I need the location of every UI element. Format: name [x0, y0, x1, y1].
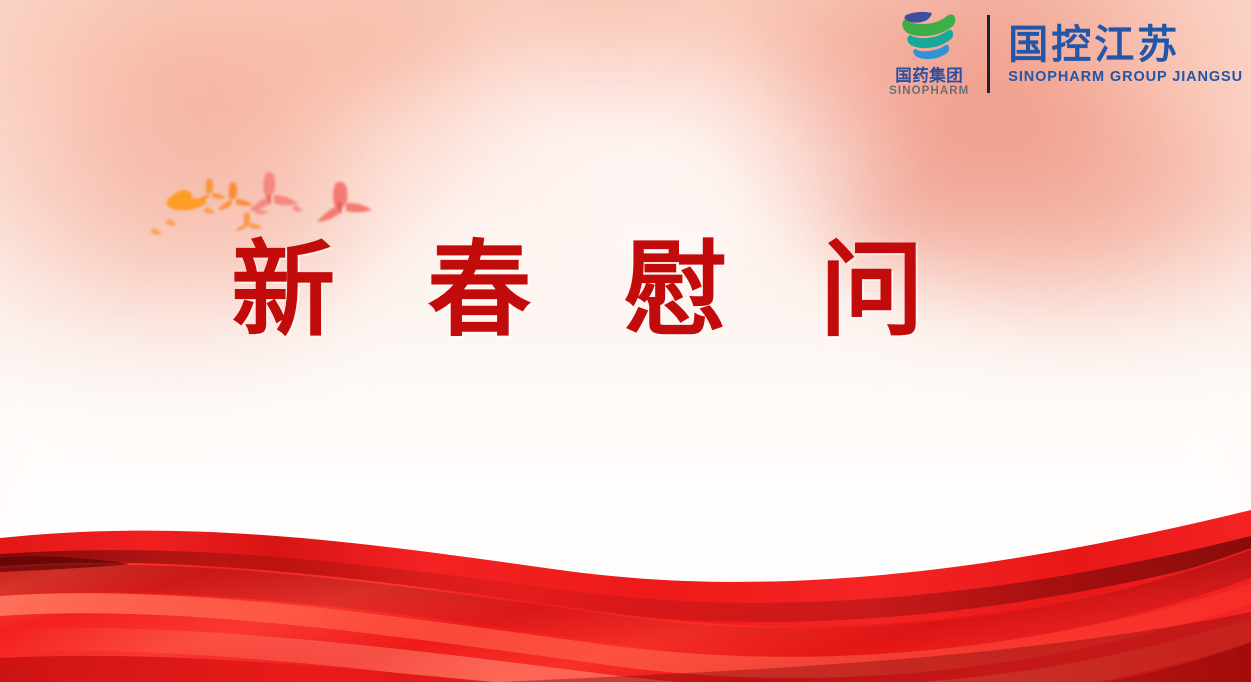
- bird-tiny-orange-a: [204, 208, 216, 214]
- poster-canvas: 新 春 慰 问 国药集团 SINOPHARM 国控江苏: [0, 0, 1251, 682]
- bird-tiny-coral-b: [293, 206, 303, 212]
- bird-large-coral: [317, 182, 372, 222]
- bird-tiny-orange-b: [166, 220, 178, 226]
- bird-medium-coral: [249, 172, 298, 211]
- brand-name-cn: 国控江苏: [1008, 24, 1180, 66]
- sinopharm-ribbon-mark-icon: [893, 9, 965, 65]
- page-title: 新 春 慰 问: [0, 232, 1203, 348]
- logo-divider: [987, 15, 990, 93]
- bird-small-orange-b: [197, 179, 226, 202]
- bird-orange-large: [167, 190, 207, 210]
- group-name-en: SINOPHARM: [889, 85, 969, 99]
- brand-logo-block[interactable]: 国药集团 SINOPHARM 国控江苏 SINOPHARM GROUP JIAN…: [883, 4, 1243, 104]
- group-name-cn: 国药集团: [895, 68, 963, 85]
- brand-name-en: SINOPHARM GROUP JIANGSU: [1008, 69, 1243, 85]
- brand-name-lockup: 国控江苏 SINOPHARM GROUP JIANGSU: [1008, 24, 1243, 85]
- sinopharm-group-lockup: 国药集团 SINOPHARM: [883, 9, 975, 99]
- bird-tiny-coral-a: [254, 208, 270, 214]
- red-silk-ribbon-wave: [0, 492, 1251, 682]
